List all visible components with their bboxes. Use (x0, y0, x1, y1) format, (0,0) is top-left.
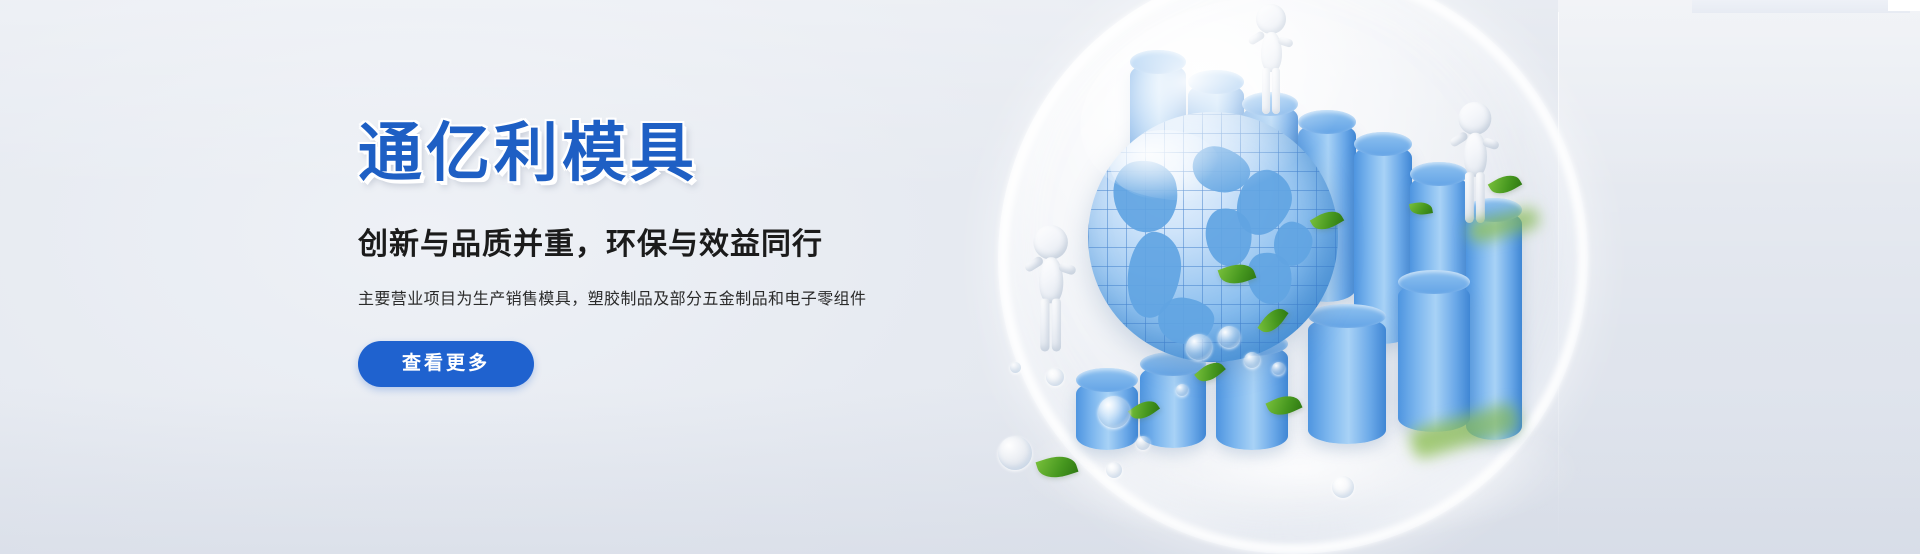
drop-2 (1218, 326, 1240, 348)
drop-11 (1272, 362, 1285, 375)
bar-5-top (1354, 132, 1412, 156)
bar-9 (1308, 316, 1386, 444)
hero-copy: 通亿利模具 创新与品质并重，环保与效益同行 主要营业项目为生产销售模具，塑胶制品… (358, 120, 1078, 387)
background-corner-block (1888, 0, 1920, 11)
figurine-head (1458, 102, 1491, 135)
drop-3 (1244, 352, 1260, 368)
drop-9 (1332, 476, 1354, 498)
figurine-leg-left (1465, 172, 1474, 223)
hero-banner: 通亿利模具 创新与品质并重，环保与效益同行 主要营业项目为生产销售模具，塑胶制品… (0, 0, 1920, 554)
bar-12-top (1076, 368, 1138, 392)
drop-10 (1176, 384, 1188, 396)
drop-1 (1186, 334, 1212, 360)
bar-8 (1398, 282, 1470, 432)
drop-5 (1136, 436, 1150, 450)
hero-description: 主要营业项目为生产销售模具，塑胶制品及部分五金制品和电子零组件 (358, 285, 1078, 309)
drop-12 (1106, 462, 1122, 478)
figurine-leg-right (1476, 172, 1485, 223)
bar-9-top (1308, 304, 1386, 328)
view-more-button[interactable]: 查看更多 (358, 341, 534, 387)
page-title: 通亿利模具 (358, 120, 1078, 187)
bar-8-top (1398, 270, 1470, 294)
background-top-strip (1692, 0, 1910, 13)
drop-4 (1098, 396, 1130, 428)
hero-subheadline: 创新与品质并重，环保与效益同行 (358, 219, 1078, 263)
drop-6 (998, 436, 1032, 470)
